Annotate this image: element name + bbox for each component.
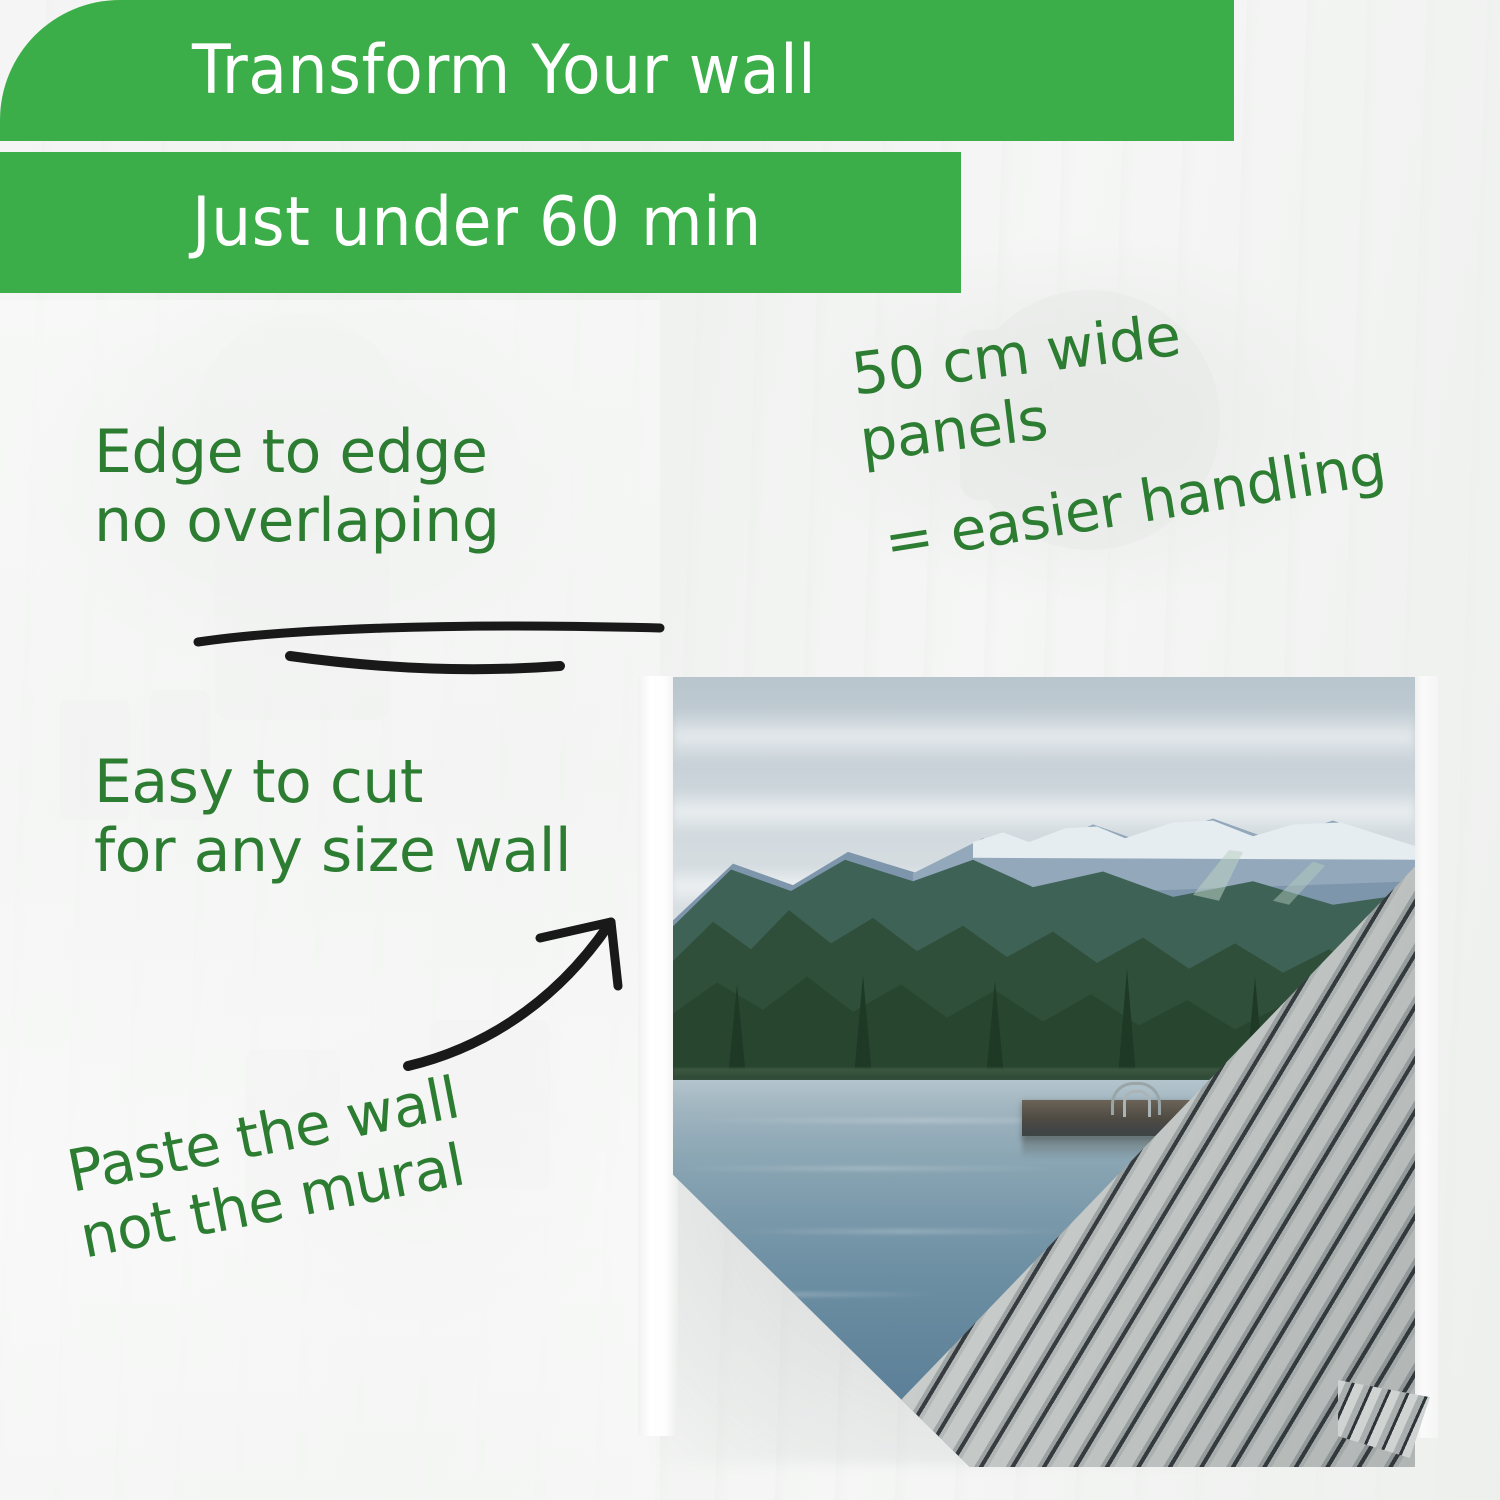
banner-headline-secondary-label: Just under 60 min — [192, 189, 762, 257]
water-streak — [732, 1230, 1073, 1233]
product-image-wallpaper-roll[interactable] — [638, 668, 1428, 1468]
roll-right-paper-edge — [1412, 676, 1438, 1438]
feature-edge-to-edge-label: Edge to edge no overlaping — [94, 418, 499, 556]
water-streak — [673, 1167, 1059, 1170]
banner-headline-secondary: Just under 60 min — [0, 152, 961, 293]
banner-headline-primary-label: Transform Your wall — [192, 37, 816, 105]
banner-headline-primary: Transform Your wall — [0, 0, 1234, 141]
feature-easy-to-cut-label: Easy to cut for any size wall — [94, 748, 571, 886]
photo-cloud-band — [673, 709, 1415, 764]
promo-infographic: Transform Your wall Just under 60 min Ed… — [0, 0, 1500, 1500]
roll-left-curl-edge — [638, 676, 678, 1436]
photo-dock-ladder — [1111, 1082, 1161, 1115]
